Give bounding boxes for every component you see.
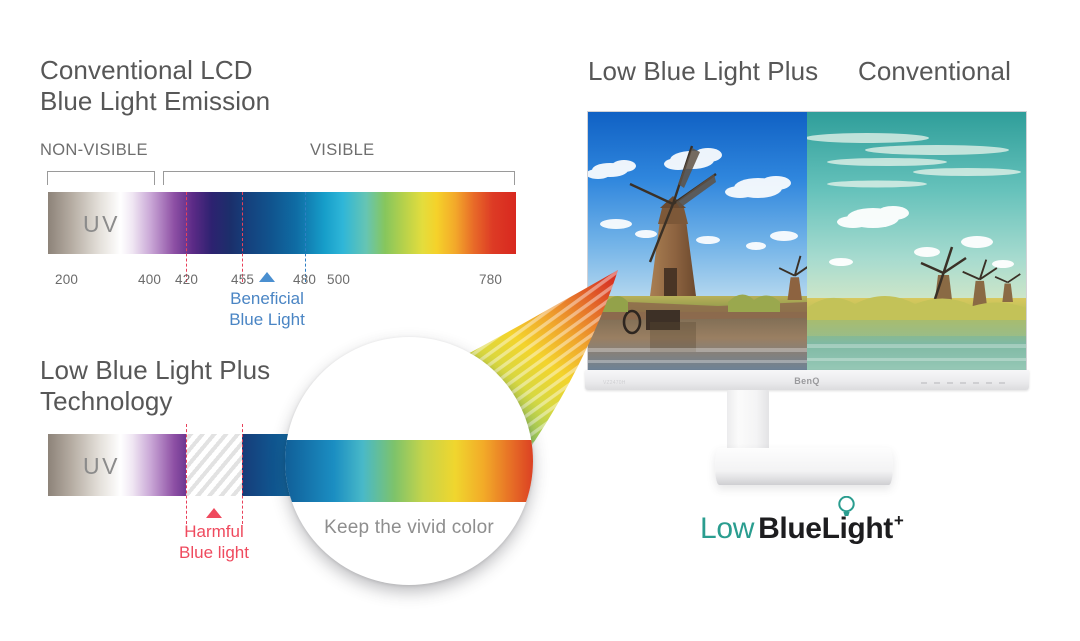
logo-word-low: Low — [700, 512, 754, 546]
lightbulb-icon — [837, 496, 856, 517]
monitor-osd-keys[interactable] — [921, 382, 1005, 384]
header-conventional: Conventional — [858, 56, 1011, 87]
caption-beneficial-blue-light: Beneficial Blue Light — [197, 288, 337, 330]
benq-logo: BenQ — [794, 376, 820, 386]
tick-500: 500 — [327, 272, 350, 287]
header-low-blue-light-plus: Low Blue Light Plus — [588, 56, 818, 87]
monitor-bezel: BenQ VZ2470H — [585, 370, 1029, 390]
beneficial-marker-icon — [259, 272, 275, 282]
logo-word-light-text: Light — [822, 512, 893, 545]
tick-480: 480 — [293, 272, 316, 287]
guide-455-chart1 — [242, 192, 243, 282]
guide-455-chart2 — [242, 424, 243, 524]
monitor-neck — [727, 390, 769, 452]
tick-200: 200 — [55, 272, 78, 287]
spectrum2-uv-label: UV — [83, 453, 120, 480]
logo-word-blue: Blue — [758, 512, 821, 546]
chart1-title: Conventional LCD Blue Light Emission — [40, 55, 270, 117]
tick-420: 420 — [175, 272, 198, 287]
bracket-visible — [163, 171, 515, 185]
screen-photo-conventional — [807, 112, 1026, 370]
infographic-root: Conventional LCD Blue Light Emission NON… — [0, 0, 1080, 641]
low-blue-light-plus-logo: Low Blue Light + — [700, 512, 904, 546]
magnifier-lens: Keep the vivid color — [285, 337, 533, 585]
harmful-marker-icon — [206, 508, 222, 518]
chart2-title: Low Blue Light Plus Technology — [40, 355, 270, 417]
label-visible: VISIBLE — [310, 141, 374, 160]
logo-plus-sign: + — [894, 511, 904, 531]
magnifier-caption: Keep the vivid color — [285, 517, 533, 539]
guide-420-chart2 — [186, 424, 187, 524]
magnified-spectrum-band — [285, 440, 533, 502]
monitor-base — [715, 448, 893, 485]
guide-480-chart1 — [305, 192, 306, 282]
blocked-band-hatch — [186, 434, 242, 496]
tick-400: 400 — [138, 272, 161, 287]
caption-harmful-blue-light: Harmful Blue light — [144, 521, 284, 563]
guide-420-chart1 — [186, 192, 187, 282]
logo-word-light: Light — [822, 512, 893, 546]
label-non-visible: NON-VISIBLE — [40, 141, 148, 160]
tick-455: 455 — [231, 272, 254, 287]
spectrum1-uv-label: UV — [83, 211, 120, 238]
monitor-screen — [588, 112, 1026, 370]
bracket-non-visible — [47, 171, 155, 185]
